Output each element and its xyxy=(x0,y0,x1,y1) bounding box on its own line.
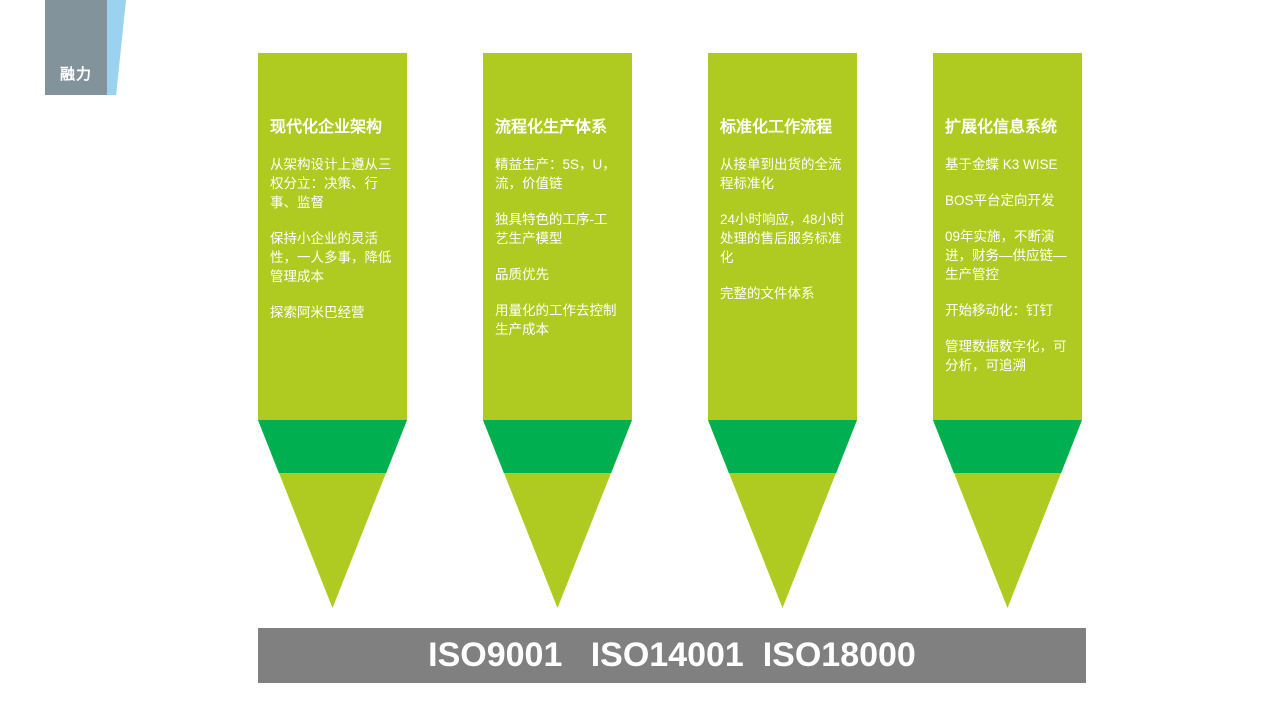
pillar-heading-4: 扩展化信息系统 xyxy=(945,118,1070,138)
pillar-item: 基于金蝶 K3 WISE xyxy=(945,155,1070,174)
pillar-item: 管理数据数字化，可分析，可追溯 xyxy=(945,337,1070,375)
iso-certification-bar: ISO9001 ISO14001 ISO18000 xyxy=(258,628,1086,683)
pillar-item: 独具特色的工序-工艺生产模型 xyxy=(495,210,620,248)
pillar-heading-3: 标准化工作流程 xyxy=(720,118,845,138)
funnel-band-2 xyxy=(483,420,632,473)
pillar-item: 从接单到出货的全流程标准化 xyxy=(720,155,845,193)
pillar-item: BOS平台定向开发 xyxy=(945,191,1070,210)
pillar-item: 从架构设计上遵从三权分立：决策、行事、监督 xyxy=(270,155,395,212)
pillar-content-3: 标准化工作流程 从接单到出货的全流程标准化 24小时响应，48小时处理的售后服务… xyxy=(708,53,857,320)
funnel-band-4 xyxy=(933,420,1082,473)
pillar-item: 24小时响应，48小时处理的售后服务标准化 xyxy=(720,210,845,267)
iso-certification-text: ISO9001 ISO14001 ISO18000 xyxy=(428,636,916,675)
pillar-content-4: 扩展化信息系统 基于金蝶 K3 WISE BOS平台定向开发 09年实施，不断演… xyxy=(933,53,1082,392)
pillar-funnel-4 xyxy=(933,420,1082,608)
pillar-heading-2: 流程化生产体系 xyxy=(495,118,620,138)
pillar-item: 保持小企业的灵活性，一人多事，降低管理成本 xyxy=(270,229,395,286)
pillar-content-2: 流程化生产体系 精益生产：5S，U，流，价值链 独具特色的工序-工艺生产模型 品… xyxy=(483,53,632,356)
pillar-funnel-3 xyxy=(708,420,857,608)
pillar-funnel-2 xyxy=(483,420,632,608)
company-logo: 融力 xyxy=(45,0,117,95)
pillar-item: 品质优先 xyxy=(495,265,620,284)
pillar-item: 精益生产：5S，U，流，价值链 xyxy=(495,155,620,193)
pillar-funnel-1 xyxy=(258,420,407,608)
pillar-content-1: 现代化企业架构 从架构设计上遵从三权分立：决策、行事、监督 保持小企业的灵活性，… xyxy=(258,53,407,339)
pillar-item: 09年实施，不断演进，财务—供应链—生产管控 xyxy=(945,227,1070,284)
funnel-band-3 xyxy=(708,420,857,473)
logo-text: 融力 xyxy=(45,66,107,84)
pillar-item: 用量化的工作去控制生产成本 xyxy=(495,301,620,339)
pillar-item: 开始移动化：钉钉 xyxy=(945,301,1070,320)
pillar-item: 完整的文件体系 xyxy=(720,284,845,303)
pillar-item: 探索阿米巴经营 xyxy=(270,303,395,322)
pillar-heading-1: 现代化企业架构 xyxy=(270,118,395,138)
funnel-band-1 xyxy=(258,420,407,473)
